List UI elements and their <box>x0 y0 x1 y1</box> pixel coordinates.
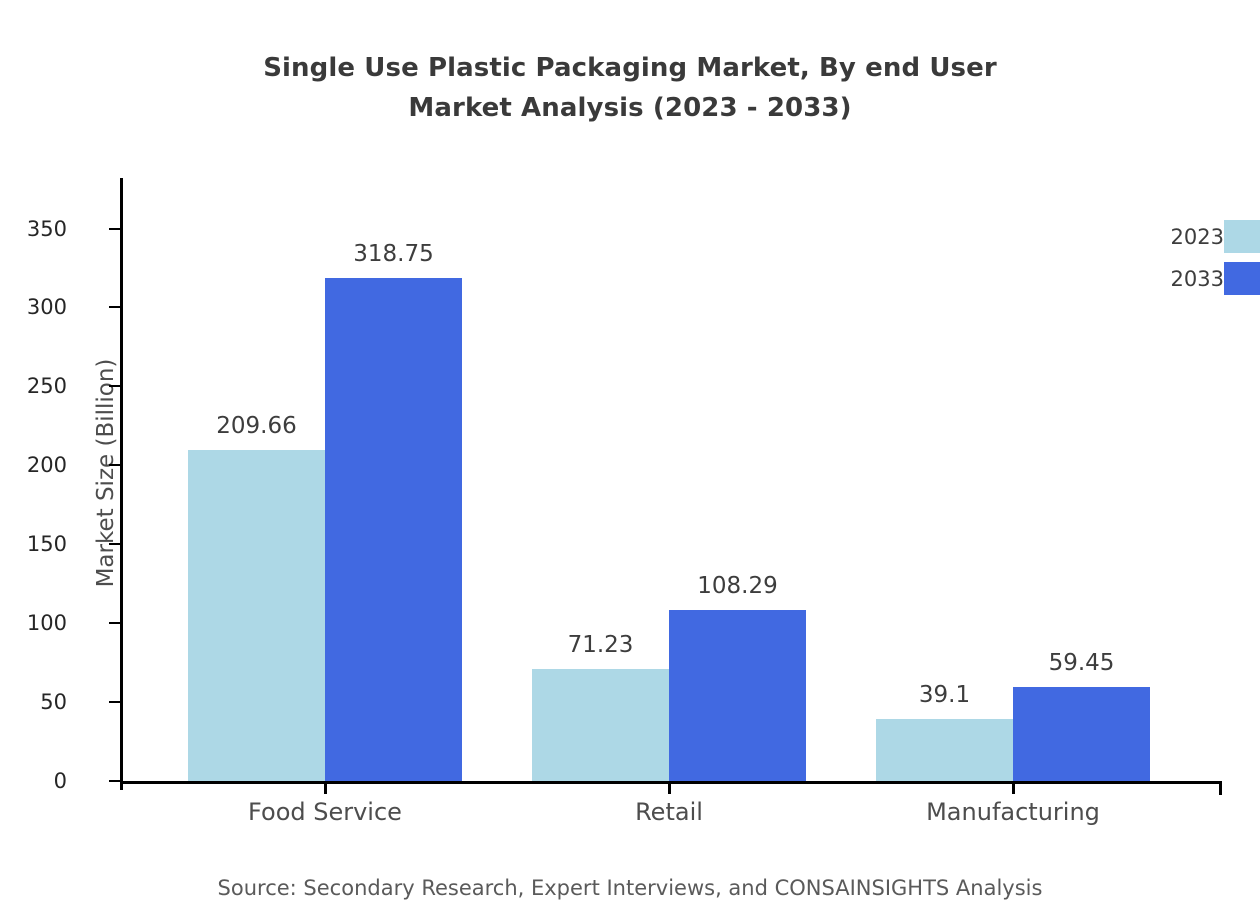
x-tick-food-service <box>324 781 327 794</box>
chart-title-line-2: Market Analysis (2023 - 2033) <box>0 88 1260 128</box>
y-tick-label-250: 250 <box>27 374 67 398</box>
bar-value-label-manufacturing-2033: 59.45 <box>1049 650 1115 676</box>
source-note: Source: Secondary Research, Expert Inter… <box>0 876 1260 900</box>
x-axis-spine <box>120 781 1222 784</box>
y-tick-300 <box>109 306 120 308</box>
y-tick-label-50: 50 <box>40 690 67 714</box>
y-tick-200 <box>109 464 120 466</box>
bar-food-service-2023[interactable] <box>188 450 325 781</box>
x-tick-label-manufacturing: Manufacturing <box>926 798 1100 826</box>
bar-value-label-manufacturing-2023: 39.1 <box>919 682 970 708</box>
x-tick-label-retail: Retail <box>635 798 703 826</box>
bar-food-service-2033[interactable] <box>325 278 462 781</box>
plot-area: Market Size (Billion) 050100150200250300… <box>120 178 1222 781</box>
y-tick-label-0: 0 <box>54 769 67 793</box>
y-tick-label-350: 350 <box>27 217 67 241</box>
legend-item-2023[interactable]: 2023 <box>1134 220 1260 253</box>
y-axis-spine <box>120 178 123 790</box>
legend-label-2033: 2033 <box>1171 267 1224 291</box>
chart-title: Single Use Plastic Packaging Market, By … <box>0 48 1260 128</box>
y-tick-50 <box>109 701 120 703</box>
legend: 2023 2033 <box>1134 220 1260 300</box>
y-tick-label-300: 300 <box>27 295 67 319</box>
y-tick-250 <box>109 385 120 387</box>
y-tick-100 <box>109 622 120 624</box>
y-tick-label-100: 100 <box>27 611 67 635</box>
bar-retail-2033[interactable] <box>669 610 806 781</box>
x-tick-manufacturing <box>1012 781 1015 794</box>
bar-value-label-retail-2023: 71.23 <box>568 632 634 658</box>
y-axis-title: Market Size (Billion) <box>93 359 119 588</box>
bar-manufacturing-2033[interactable] <box>1013 687 1150 781</box>
y-tick-350 <box>109 228 120 230</box>
x-tick-retail <box>668 781 671 794</box>
x-tick-label-food-service: Food Service <box>248 798 402 826</box>
chart-title-line-1: Single Use Plastic Packaging Market, By … <box>0 48 1260 88</box>
chart-figure: Single Use Plastic Packaging Market, By … <box>0 0 1260 920</box>
bar-retail-2023[interactable] <box>532 669 669 781</box>
bar-value-label-food-service-2033: 318.75 <box>353 241 433 267</box>
legend-item-2033[interactable]: 2033 <box>1134 262 1260 295</box>
y-tick-150 <box>109 543 120 545</box>
y-tick-0 <box>109 780 120 782</box>
y-tick-label-200: 200 <box>27 453 67 477</box>
bar-value-label-food-service-2023: 209.66 <box>216 413 296 439</box>
x-axis-end-tick <box>1219 781 1222 795</box>
bar-value-label-retail-2033: 108.29 <box>697 573 777 599</box>
bar-manufacturing-2023[interactable] <box>876 719 1013 781</box>
legend-label-2023: 2023 <box>1171 225 1224 249</box>
y-tick-label-150: 150 <box>27 532 67 556</box>
legend-swatch-2023 <box>1224 220 1260 253</box>
legend-swatch-2033 <box>1224 262 1260 295</box>
